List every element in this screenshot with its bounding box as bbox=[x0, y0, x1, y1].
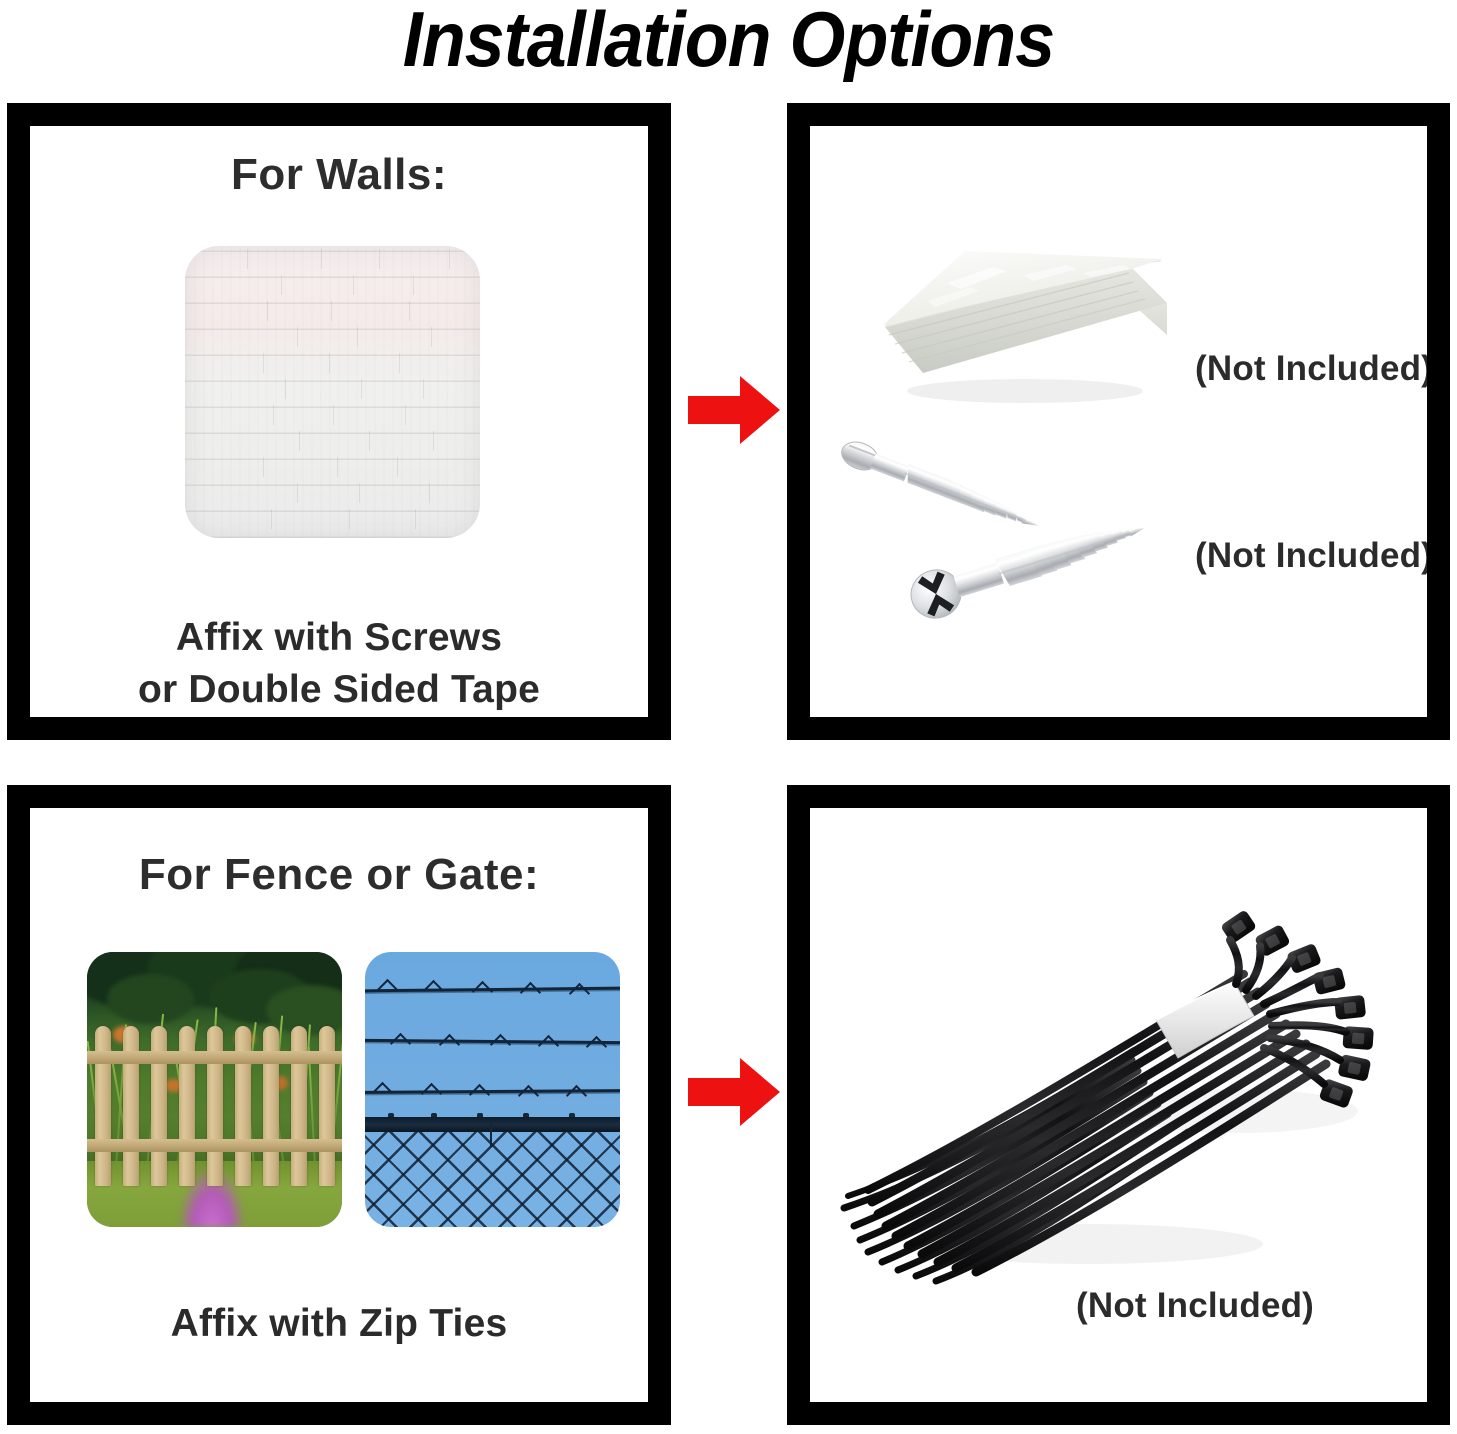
for-fence-heading: For Fence or Gate: bbox=[30, 850, 648, 900]
chain-link-barbed-wire-fence-image bbox=[365, 952, 620, 1227]
for-fence-caption: Affix with Zip Ties bbox=[30, 1298, 648, 1350]
panel-for-fence-content: For Fence or Gate: bbox=[30, 808, 648, 1402]
screws-not-included-label: (Not Included) bbox=[1195, 536, 1433, 576]
panel-for-fence-or-gate: For Fence or Gate: bbox=[7, 785, 671, 1425]
wooden-picket-fence-image bbox=[87, 952, 342, 1227]
red-right-arrow-icon-fence bbox=[686, 1056, 782, 1128]
panel-for-walls-content: For Walls: bbox=[30, 126, 648, 717]
tape-not-included-label: (Not Included) bbox=[1195, 349, 1433, 389]
red-right-arrow-icon-walls bbox=[686, 374, 782, 446]
for-walls-heading: For Walls: bbox=[30, 150, 648, 200]
screw-icon-lower bbox=[896, 516, 1160, 628]
zip-ties-not-included-label: (Not Included) bbox=[1076, 1286, 1314, 1326]
for-walls-caption-line-1: Affix with Screws bbox=[30, 612, 648, 664]
panel-zip-tie-hardware: (Not Included) bbox=[787, 785, 1450, 1425]
white-brick-wall-image bbox=[185, 246, 480, 538]
panel-for-walls: For Walls: bbox=[7, 103, 671, 740]
screw-icon-upper bbox=[838, 430, 1078, 526]
panel-wall-hardware: (Not Included) bbox=[787, 103, 1450, 740]
panel-zip-tie-content: (Not Included) bbox=[810, 808, 1427, 1402]
zip-ties-icon bbox=[838, 896, 1383, 1296]
page-title: Installation Options bbox=[58, 0, 1398, 82]
for-walls-caption-line-2: or Double Sided Tape bbox=[30, 664, 648, 716]
panel-wall-hardware-content: (Not Included) bbox=[810, 126, 1427, 717]
double-sided-tape-icon bbox=[875, 239, 1171, 409]
